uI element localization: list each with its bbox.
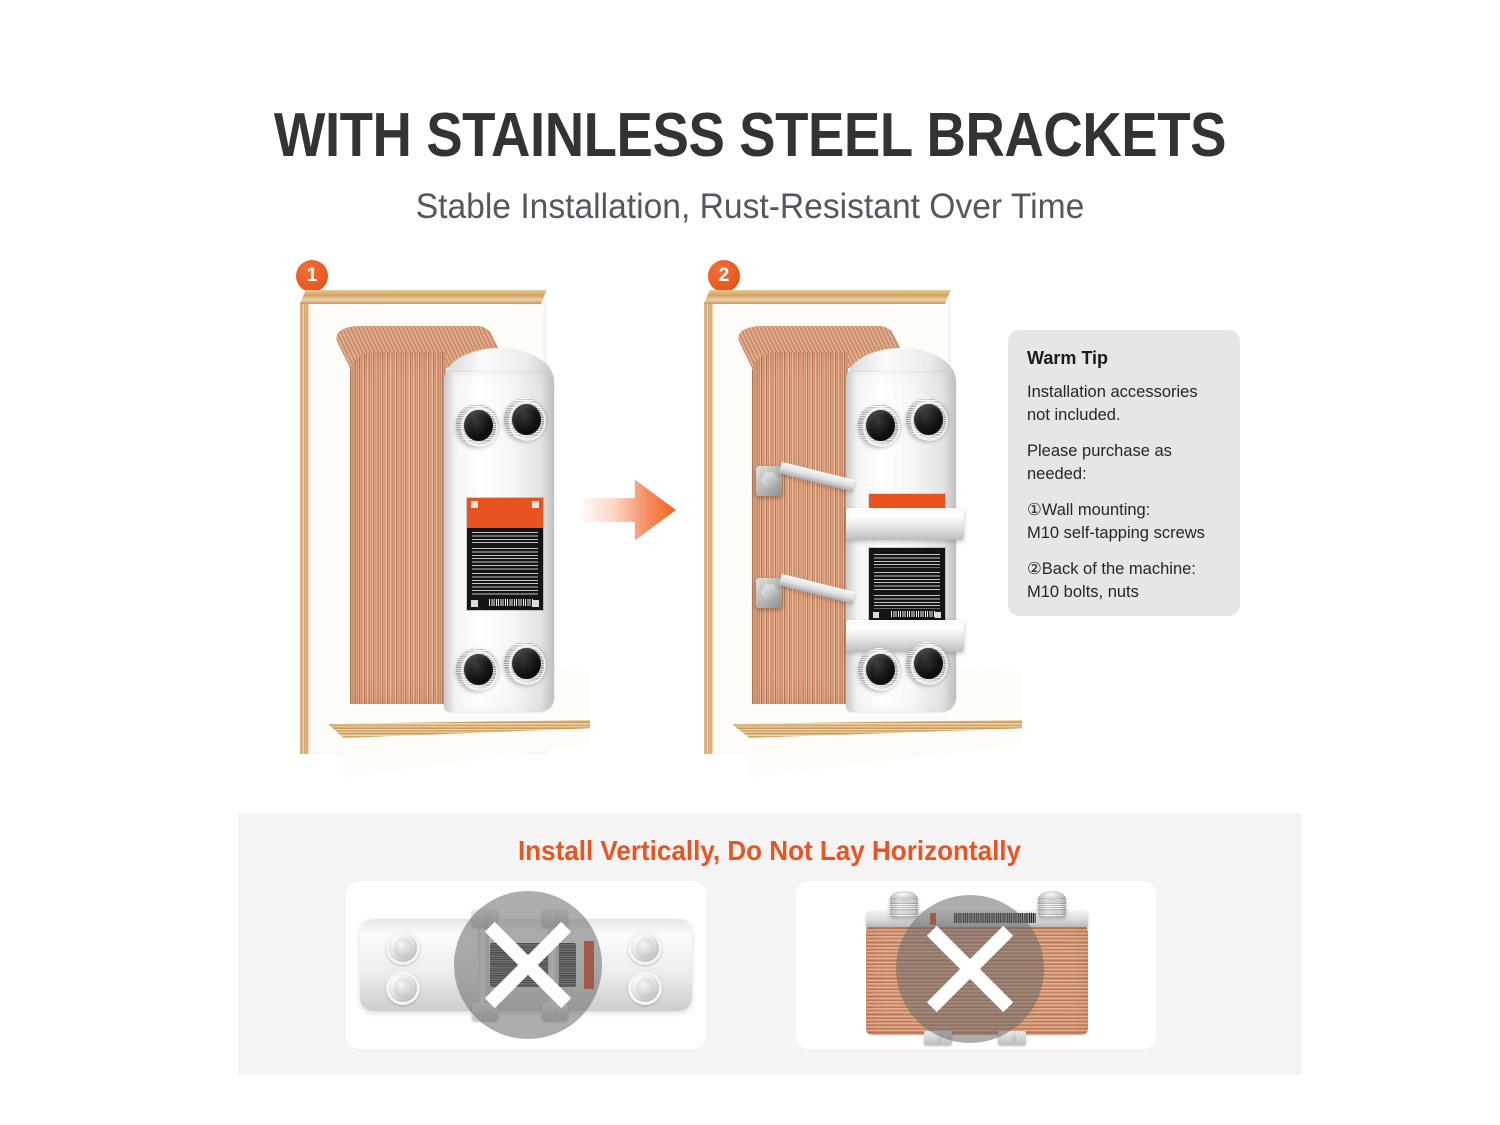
plywood-wall-top-edge: [300, 290, 547, 304]
warm-tip-box: Warm Tip Installation accessories not in…: [1008, 330, 1240, 616]
page-title: WITH STAINLESS STEEL BRACKETS: [90, 104, 1410, 168]
warning-card-lay-on-side: [796, 881, 1156, 1049]
warm-tip-line-8: M10 bolts, nuts: [1027, 583, 1139, 601]
forbidden-overlay-icon: [896, 895, 1044, 1043]
orientation-warning-panel: Install Vertically, Do Not Lay Horizonta…: [238, 813, 1301, 1075]
warm-tip-line-5: ①Wall mounting:: [1027, 501, 1150, 519]
port-side-right: [1038, 895, 1066, 917]
port-top-right: [504, 398, 546, 440]
warm-tip-paragraph-accessories: Installation accessories not included.: [1027, 381, 1221, 426]
port-rim: [461, 407, 498, 446]
warning-card-lay-flat: [346, 881, 706, 1049]
port-rim: [911, 401, 948, 440]
port-upper-left: [386, 931, 420, 965]
warm-tip-paragraph-back-mounting: ②Back of the machine: M10 bolts, nuts: [1027, 558, 1221, 603]
warm-tip-line-3: Please purchase as: [1027, 442, 1172, 460]
label-corner-mark-tr: [532, 501, 539, 508]
plywood-wall-top-edge: [704, 290, 951, 304]
label-text-block-c: [472, 573, 539, 595]
port-side-left: [890, 895, 918, 917]
label-barcode: [489, 599, 533, 606]
copper-plate-stack: [350, 352, 446, 704]
port-rim: [461, 651, 498, 690]
port-top-left: [456, 404, 498, 446]
port-rim: [509, 401, 546, 440]
warm-tip-line-2: not included.: [1027, 406, 1121, 424]
port-bottom-right: [906, 642, 948, 684]
product-photo-step-2: [692, 288, 1022, 788]
port-upper-right: [628, 931, 662, 965]
port-top-right: [906, 398, 948, 440]
bracket-strap-upper: [846, 508, 964, 540]
transition-arrow-icon: [578, 477, 676, 543]
warm-tip-paragraph-purchase: Please purchase as needed:: [1027, 440, 1221, 485]
page-subtitle: Stable Installation, Rust-Resistant Over…: [30, 186, 1470, 228]
warm-tip-line-7: ②Back of the machine:: [1027, 560, 1196, 578]
product-label: [467, 498, 543, 610]
label-text-block-a: [472, 532, 539, 544]
heat-exchanger-unit-2: [750, 326, 980, 746]
warm-tip-title: Warm Tip: [1027, 348, 1221, 368]
copper-plate-stack: [752, 352, 848, 704]
orientation-warning-title: Install Vertically, Do Not Lay Horizonta…: [275, 835, 1264, 867]
heat-exchanger-unit-1: [348, 326, 558, 746]
label-corner-mark-tl: [471, 501, 478, 508]
forbidden-overlay-icon: [454, 891, 602, 1039]
port-rim: [509, 645, 546, 684]
port-top-left: [858, 404, 900, 446]
label-text-block-c: [874, 595, 941, 609]
port-bottom-left: [858, 648, 900, 690]
label-corner-mark-bl: [873, 612, 879, 618]
port-lower-right: [628, 971, 662, 1005]
port-rim: [863, 651, 900, 690]
port-lower-left: [386, 971, 420, 1005]
warm-tip-line-1: Installation accessories: [1027, 383, 1198, 401]
port-bottom-left: [456, 648, 498, 690]
product-photo-step-1: [288, 288, 588, 788]
label-corner-mark-bl: [471, 600, 478, 607]
label-text-block-b: [472, 548, 539, 570]
label-barcode: [891, 611, 935, 617]
label-text-block-b: [874, 572, 941, 592]
port-bottom-right: [504, 642, 546, 684]
port-rim: [863, 407, 900, 446]
warm-tip-line-4: needed:: [1027, 465, 1087, 483]
label-corner-mark-br: [532, 600, 539, 607]
product-label: [869, 548, 945, 620]
warm-tip-paragraph-wall-mounting: ①Wall mounting: M10 self-tapping screws: [1027, 499, 1221, 544]
port-rim: [911, 645, 948, 684]
warm-tip-line-6: M10 self-tapping screws: [1027, 524, 1205, 542]
label-corner-mark-br: [935, 612, 941, 618]
label-text-block-a: [874, 554, 941, 568]
